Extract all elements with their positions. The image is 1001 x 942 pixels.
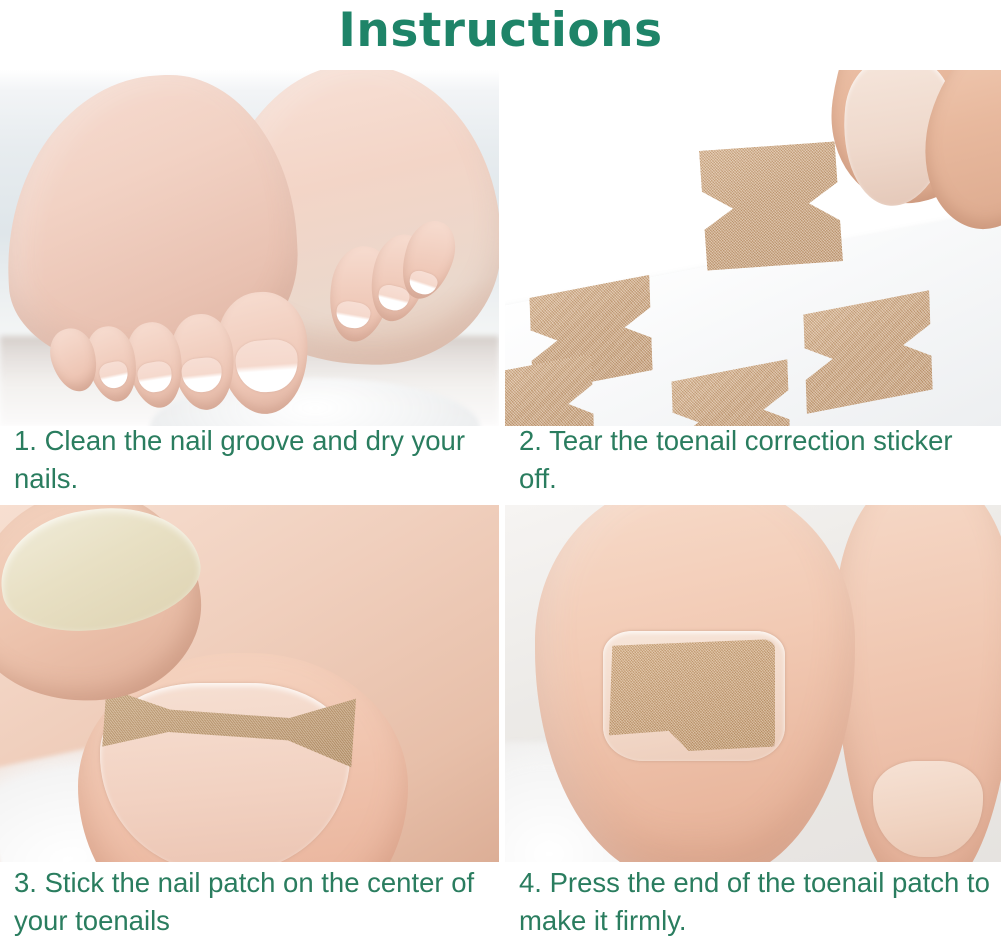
step-1-caption: 1. Clean the nail groove and dry your na…	[14, 422, 493, 498]
steps-grid: 1. Clean the nail groove and dry your na…	[0, 70, 1001, 942]
step-4-caption: 4. Press the end of the toenail patch to…	[519, 864, 995, 940]
step-3-photo	[0, 505, 499, 862]
step-2-photo	[505, 70, 1001, 426]
step-panel-3: 3. Stick the nail patch on the center of…	[0, 505, 499, 942]
step-panel-2: 2. Tear the toenail correction sticker o…	[505, 70, 1001, 502]
step-panel-1: 1. Clean the nail groove and dry your na…	[0, 70, 499, 502]
step-panel-4: 4. Press the end of the toenail patch to…	[505, 505, 1001, 942]
step-3-caption: 3. Stick the nail patch on the center of…	[14, 864, 493, 940]
step-1-photo	[0, 70, 499, 426]
instructions-infographic: Instructions	[0, 0, 1001, 942]
page-title: Instructions	[0, 0, 1001, 68]
step-2-caption: 2. Tear the toenail correction sticker o…	[519, 422, 995, 498]
step-4-photo	[505, 505, 1001, 862]
